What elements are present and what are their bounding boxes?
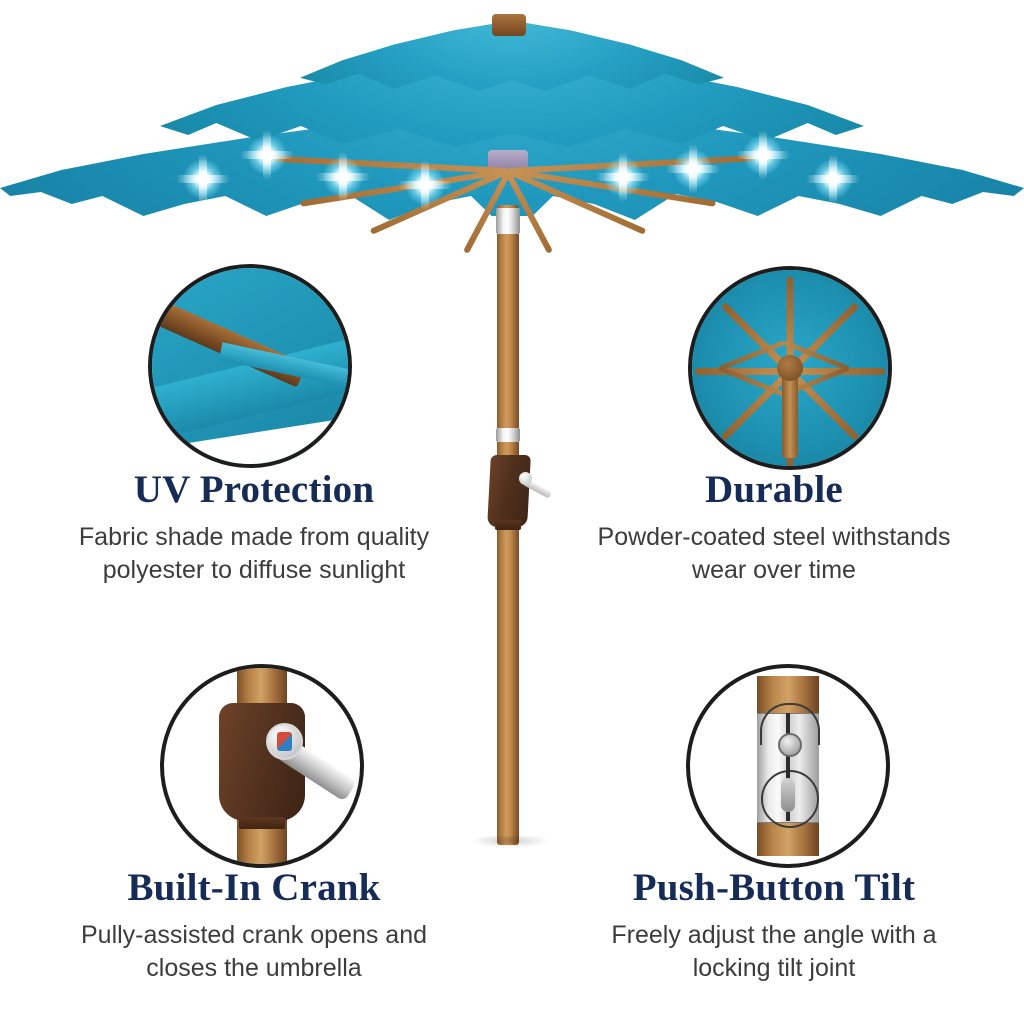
- underside-center-pole: [782, 368, 798, 458]
- feature-description-line: polyester to diffuse sunlight: [14, 554, 494, 587]
- callout-circle-crank: [160, 664, 364, 868]
- feature-description-line: locking tilt joint: [534, 952, 1014, 985]
- feature-description: Freely adjust the angle with a locking t…: [534, 919, 1014, 985]
- upper-tilt-collar: [496, 208, 520, 234]
- feature-description-line: closes the umbrella: [14, 952, 494, 985]
- feature-title: UV Protection: [14, 470, 494, 511]
- feature-push-button-tilt: Push-Button Tilt Freely adjust the angle…: [534, 868, 1014, 985]
- crank-knob-icon: [519, 472, 532, 485]
- feature-description-line: Fabric shade made from quality: [14, 521, 494, 554]
- lower-pole-collar: [496, 428, 520, 442]
- feature-description-line: Powder-coated steel withstands: [534, 521, 1014, 554]
- feature-title: Built-In Crank: [14, 868, 494, 909]
- callout-circle-tilt-joint: [686, 664, 890, 868]
- feature-durable: Durable Powder-coated steel withstands w…: [534, 470, 1014, 587]
- callout-circle-fabric-closeup: [148, 264, 352, 468]
- feature-title: Durable: [534, 470, 1014, 511]
- feature-description-line: Freely adjust the angle with a: [534, 919, 1014, 952]
- infographic-canvas: UV Protection Fabric shade made from qua…: [0, 0, 1024, 1024]
- pole-band: [495, 520, 521, 530]
- feature-description: Powder-coated steel withstands wear over…: [534, 521, 1014, 587]
- underside-rib: [695, 368, 790, 375]
- feature-uv-protection: UV Protection Fabric shade made from qua…: [14, 470, 494, 587]
- pole-shadow: [470, 836, 550, 848]
- callout-circle-underside-ribs: [688, 266, 892, 470]
- feature-description-line: Pully-assisted crank opens and: [14, 919, 494, 952]
- tilt-push-button-icon[interactable]: [778, 733, 802, 757]
- tilt-pin: [781, 778, 795, 812]
- underside-hub: [777, 355, 803, 381]
- feature-built-in-crank: Built-In Crank Pully-assisted crank open…: [14, 868, 494, 985]
- crank-pole-band: [239, 817, 285, 829]
- feature-description-line: wear over time: [534, 554, 1014, 587]
- feature-description: Fabric shade made from quality polyester…: [14, 521, 494, 587]
- feature-description: Pully-assisted crank opens and closes th…: [14, 919, 494, 985]
- feature-title: Push-Button Tilt: [534, 868, 1014, 909]
